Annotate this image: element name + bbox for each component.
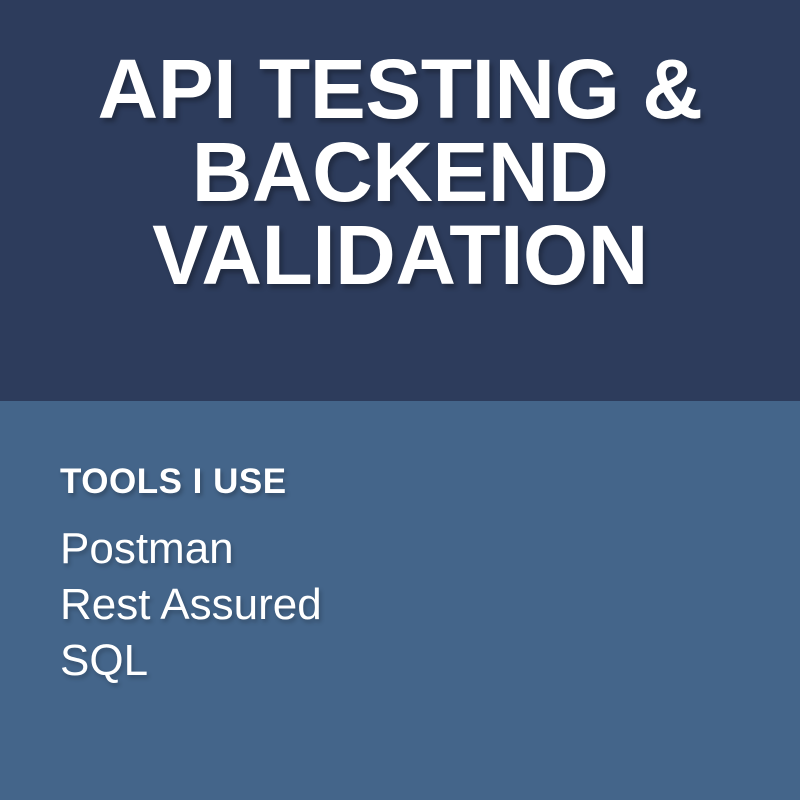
poster-canvas: API TESTING & BACKEND VALIDATION TOOLS I… [0,0,800,800]
tool-item-sql: SQL [60,633,390,689]
title-line-2: BACKEND [0,131,800,214]
page-title: API TESTING & BACKEND VALIDATION [0,48,800,297]
tools-heading: TOOLS I USE [60,464,390,499]
tool-item-postman: Postman [60,521,390,577]
body-band: TOOLS I USE Postman Rest Assured SQL [0,401,800,800]
title-line-1: API TESTING & [0,48,800,131]
header-band: API TESTING & BACKEND VALIDATION [0,0,800,401]
title-line-3: VALIDATION [0,214,800,297]
tool-item-rest-assured: Rest Assured [60,577,390,633]
tools-section: TOOLS I USE Postman Rest Assured SQL [60,464,390,689]
